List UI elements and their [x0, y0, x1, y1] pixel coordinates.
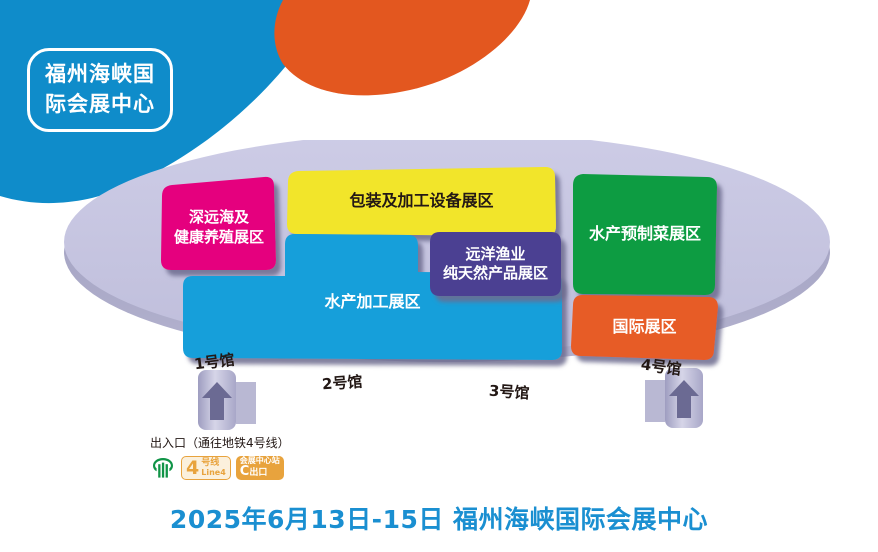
hall-label-3: 3号馆	[488, 380, 530, 404]
zone-text-line2-fishery: 纯天然产品展区	[443, 264, 548, 282]
venue-badge-line2: 际会展中心	[45, 90, 155, 120]
zone-text-line1-deep-sea: 深远海及	[189, 208, 249, 226]
fuzhou-metro-logo-icon	[150, 456, 176, 480]
zone-text-aquatic-processing: 水产加工展区	[324, 292, 420, 311]
zone-label-deep-sea-fishery-natural-products[interactable]: 远洋渔业 纯天然产品展区	[430, 232, 561, 296]
metro-line-en: Line4	[201, 469, 226, 477]
venue-badge-line1: 福州海峡国	[45, 60, 155, 90]
orange-header-shape	[274, 0, 530, 95]
metro-info-row: 4 号线 Line4 会展中心站 C出口	[150, 456, 284, 480]
zone-text-international: 国际展区	[612, 317, 676, 336]
hall-label-1: 1号馆	[193, 349, 236, 375]
zone-text-packaging: 包装及加工设备展区	[349, 191, 493, 210]
entrance-arrow-left-icon	[202, 382, 232, 420]
metro-line-number: 4	[182, 459, 201, 478]
zone-text-line1-fishery: 远洋渔业	[465, 245, 525, 263]
zone-text-prepared-dishes: 水产预制菜展区	[589, 224, 701, 243]
poster-canvas: 福州海峡国 际会展中心	[0, 0, 878, 552]
entrance-arrow-right-icon	[669, 380, 699, 418]
platform-legs	[198, 368, 703, 430]
hall-label-4: 4号馆	[640, 353, 683, 379]
event-date-venue-footer: 2025年6月13日-15日 福州海峡国际会展中心	[0, 500, 878, 536]
venue-name-badge: 福州海峡国 际会展中心	[27, 48, 173, 132]
metro-exit-letter: C	[240, 464, 250, 479]
metro-line-pill: 4 号线 Line4	[181, 456, 231, 480]
hall-label-2: 2号馆	[321, 371, 363, 395]
zone-label-prepared-aquatic-dishes[interactable]: 水产预制菜展区	[573, 174, 717, 295]
zone-label-international[interactable]: 国际展区	[571, 295, 718, 360]
zone-label-packaging-processing-equipment[interactable]: 包装及加工设备展区	[287, 167, 556, 236]
metro-exit-cn: 出口	[249, 468, 267, 478]
metro-exit-pill: 会展中心站 C出口	[236, 456, 284, 480]
entrance-label: 出入口（通往地铁4号线）	[150, 434, 290, 451]
